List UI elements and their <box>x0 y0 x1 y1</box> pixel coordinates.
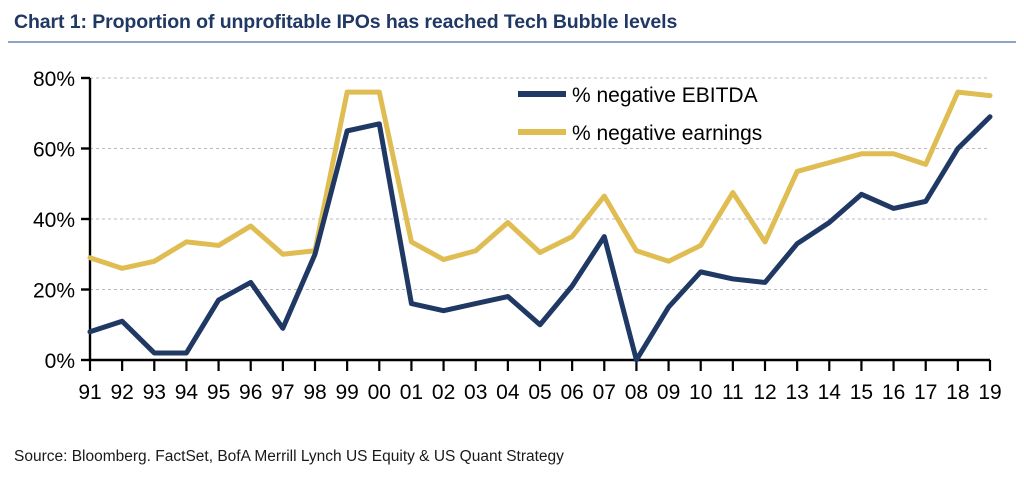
x-tick-label: 07 <box>593 381 616 404</box>
x-tick-label: 14 <box>818 381 842 404</box>
x-tick-label: 18 <box>946 381 969 404</box>
x-tick-label: 03 <box>464 381 487 404</box>
x-tick-label: 93 <box>143 381 166 404</box>
x-tick-label: 98 <box>303 381 326 404</box>
x-tick-label: 11 <box>722 381 744 404</box>
x-tick-label: 97 <box>271 381 294 404</box>
x-tick-label: 16 <box>882 381 905 404</box>
series-line-negative-earnings <box>90 92 990 268</box>
x-tick-label: 91 <box>78 381 101 404</box>
x-tick-label: 17 <box>914 381 937 404</box>
x-tick-label: 13 <box>785 381 808 404</box>
source-note: Source: Bloomberg. FactSet, BofA Merrill… <box>14 448 564 466</box>
x-tick-label: 10 <box>689 381 712 404</box>
title-block: Chart 1: Proportion of unprofitable IPOs… <box>0 0 1024 43</box>
x-axis: 9192939495969798990001020304050607080910… <box>78 360 1001 404</box>
x-tick-label: 15 <box>850 381 873 404</box>
x-tick-label: 04 <box>496 381 520 404</box>
legend-label: % negative EBITDA <box>572 84 758 107</box>
y-tick-label: 80% <box>33 68 75 91</box>
x-tick-label: 00 <box>368 381 391 404</box>
y-tick-label: 20% <box>33 280 75 303</box>
x-tick-label: 96 <box>239 381 262 404</box>
x-tick-label: 99 <box>335 381 358 404</box>
x-tick-label: 19 <box>978 381 1001 404</box>
x-tick-label: 08 <box>625 381 648 404</box>
title-divider <box>8 41 1016 43</box>
y-tick-label: 0% <box>45 350 75 373</box>
chart-legend: % negative EBITDA% negative earnings <box>518 84 762 145</box>
y-tick-label: 60% <box>33 139 75 162</box>
y-axis: 0%20%40%60%80% <box>33 68 90 373</box>
y-tick-label: 40% <box>33 209 75 232</box>
chart-plot-area: 0%20%40%60%80% 9192939495969798990001020… <box>0 46 1024 426</box>
x-tick-label: 12 <box>753 381 776 404</box>
x-tick-label: 01 <box>400 381 423 404</box>
x-tick-label: 05 <box>528 381 551 404</box>
gridlines-group <box>90 78 990 290</box>
x-tick-label: 92 <box>110 381 133 404</box>
x-tick-label: 02 <box>432 381 455 404</box>
x-tick-label: 95 <box>207 381 230 404</box>
legend-label: % negative earnings <box>572 122 762 145</box>
x-tick-label: 94 <box>175 381 199 404</box>
page-title: Chart 1: Proportion of unprofitable IPOs… <box>0 0 1024 34</box>
line-chart-svg: 0%20%40%60%80% 9192939495969798990001020… <box>0 46 1024 426</box>
chart-page: Chart 1: Proportion of unprofitable IPOs… <box>0 0 1024 479</box>
x-tick-label: 09 <box>657 381 680 404</box>
x-tick-label: 06 <box>560 381 583 404</box>
